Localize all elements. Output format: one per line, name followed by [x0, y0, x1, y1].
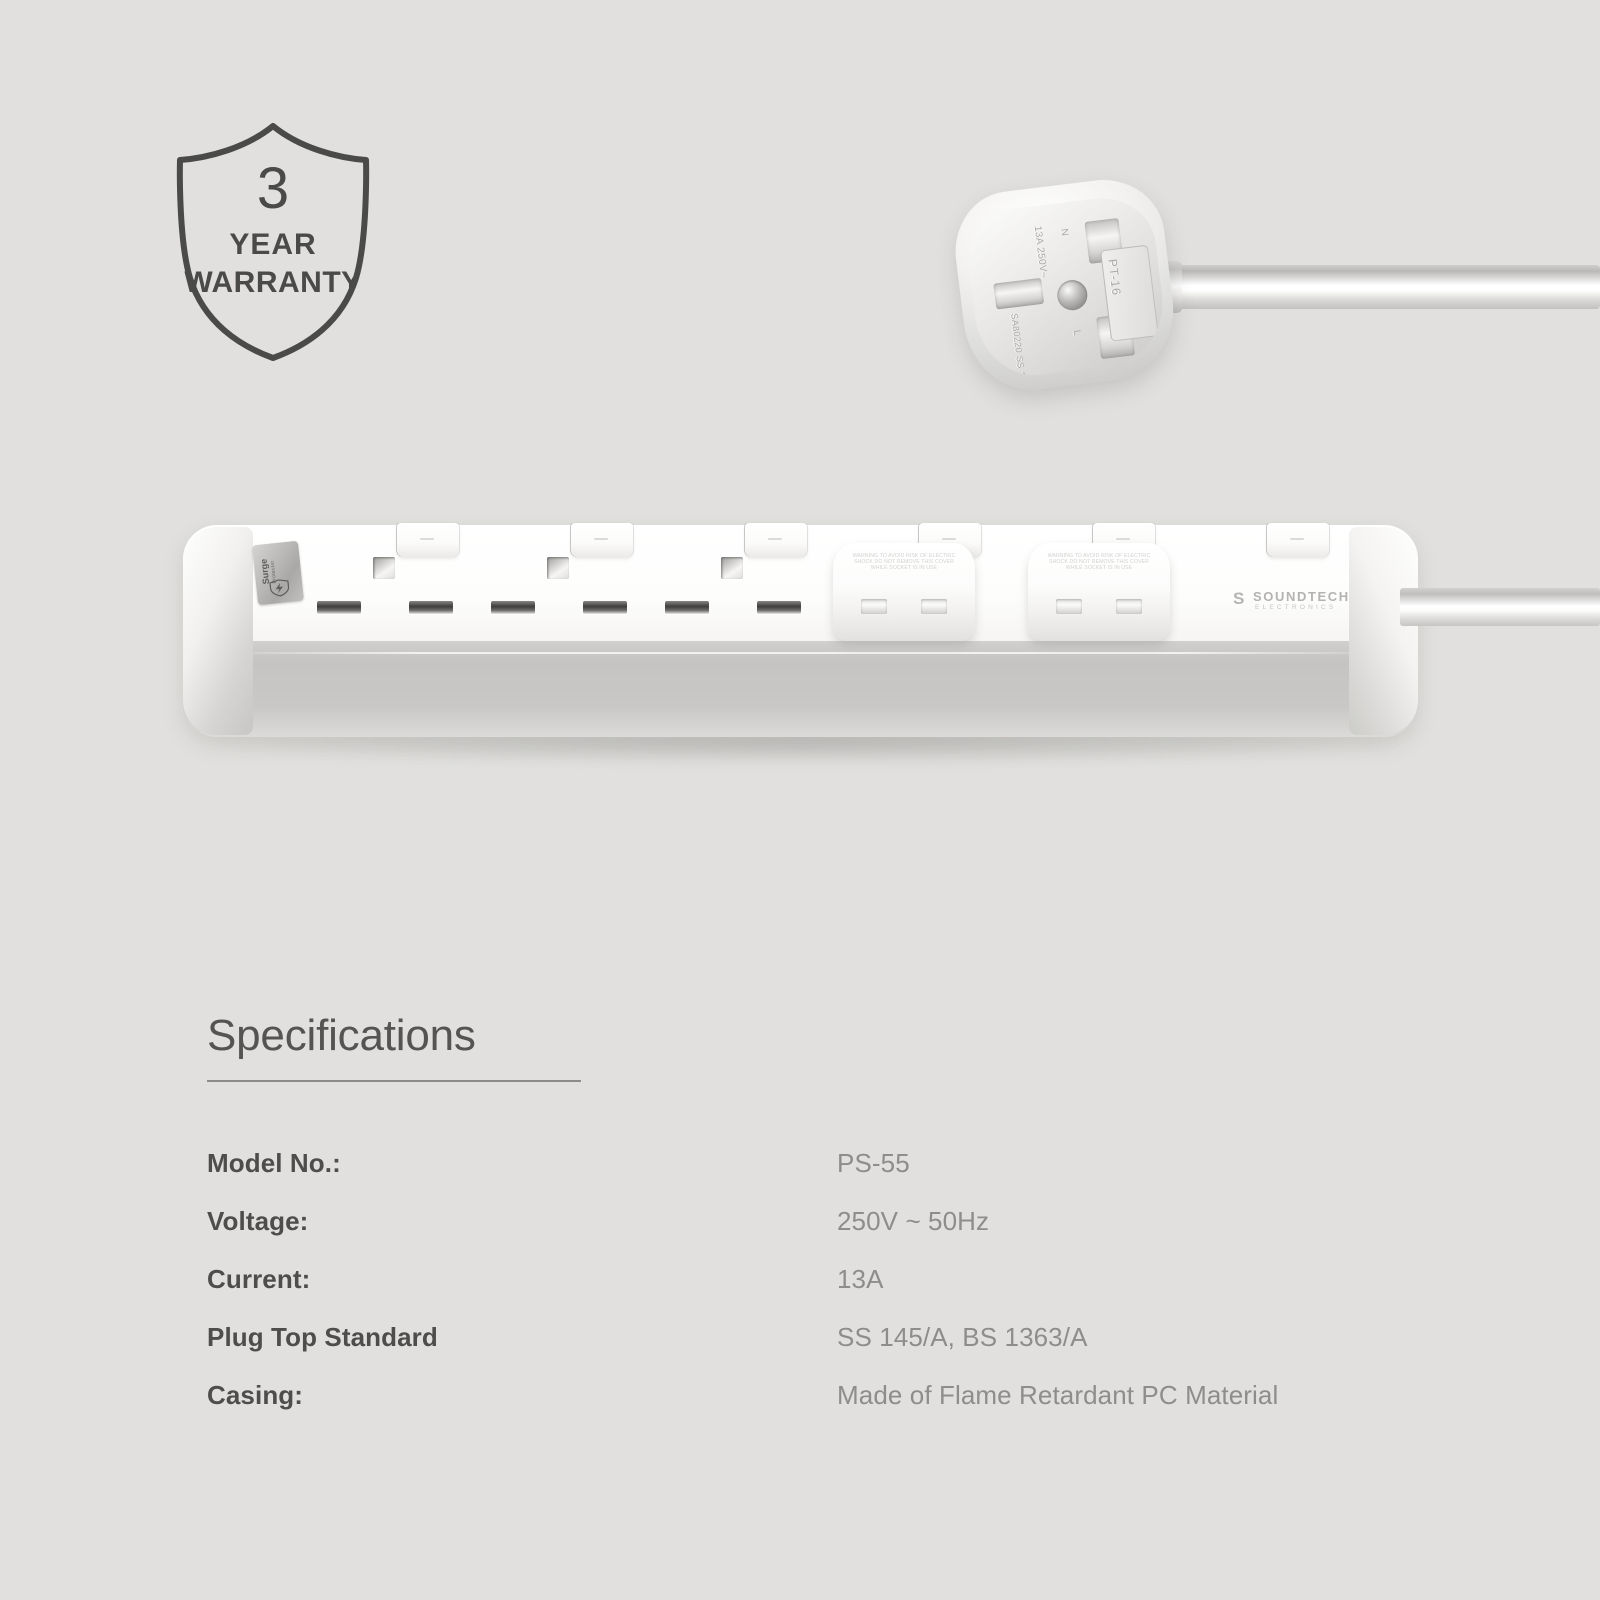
spec-value: Made of Flame Retardant PC Material	[837, 1366, 1497, 1424]
socket-neutral-slot	[317, 601, 361, 614]
surge-protector-sticker: Surge Protector	[252, 541, 304, 605]
power-strip-body: Surge Protector	[183, 525, 1418, 737]
table-row: Voltage: 250V ~ 50Hz	[207, 1192, 1497, 1250]
spec-label: Voltage:	[207, 1192, 837, 1250]
socket-cover-pin-right	[1116, 599, 1142, 614]
socket-earth-slot	[721, 557, 743, 579]
plug-ratings-text: 13A 250V~	[1031, 225, 1049, 279]
power-strip-output-cable	[1400, 588, 1600, 626]
socket-switch-6[interactable]	[1267, 523, 1329, 557]
socket-switch-2[interactable]	[571, 523, 633, 557]
spec-label: Model No.:	[207, 1134, 837, 1192]
brand-logo-name: SOUNDTECH	[1253, 590, 1350, 604]
socket-cover-warning-text: WARNING TO AVOID RISK OF ELECTRIC SHOCK …	[1044, 553, 1154, 572]
socket-live-slot	[409, 601, 453, 614]
socket-outlet-1[interactable]	[301, 525, 469, 641]
table-row: Casing: Made of Flame Retardant PC Mater…	[207, 1366, 1497, 1424]
plug-standards-text: SA80220 SS 145 MS 589/A BS 1363/A	[1008, 313, 1040, 382]
plug-screw	[1056, 278, 1089, 311]
socket-live-slot	[757, 601, 801, 614]
uk-mains-plug: 13A 250V~ SA80220 SS 145 MS 589/A BS 136…	[949, 173, 1182, 397]
spec-value: 250V ~ 50Hz	[837, 1192, 1497, 1250]
power-strip-right-end-cap	[1349, 527, 1418, 735]
table-row: Current: 13A	[207, 1250, 1497, 1308]
table-row: Plug Top Standard SS 145/A, BS 1363/A	[207, 1308, 1497, 1366]
power-strip: Surge Protector	[183, 525, 1418, 760]
specifications-section: Specifications Model No.: PS-55 Voltage:…	[207, 1010, 1497, 1424]
spec-value: 13A	[837, 1250, 1497, 1308]
socket-cover-pin-left	[861, 599, 887, 614]
power-strip-seam	[205, 652, 1395, 654]
plug-terminal-neutral-mark: N	[1058, 228, 1070, 237]
spec-value: SS 145/A, BS 1363/A	[837, 1308, 1497, 1366]
brand-logo-mark: S	[1233, 591, 1249, 607]
brand-logo: S SOUNDTECH ELECTRONICS	[1233, 587, 1373, 617]
table-row: Model No.: PS-55	[207, 1134, 1497, 1192]
warranty-year-label: YEAR	[168, 228, 378, 262]
spec-label: Current:	[207, 1250, 837, 1308]
socket-safety-cover-2[interactable]: WARNING TO AVOID RISK OF ELECTRIC SHOCK …	[1028, 543, 1170, 641]
uk-plug-assembly: 13A 250V~ SA80220 SS 145 MS 589/A BS 136…	[960, 185, 1600, 415]
socket-outlet-2[interactable]	[475, 525, 643, 641]
plug-terminal-live-mark: L	[1071, 329, 1083, 336]
spec-value: PS-55	[837, 1134, 1497, 1192]
specifications-heading: Specifications	[207, 1010, 1497, 1062]
shield-lightning-icon	[268, 578, 292, 598]
spec-label: Plug Top Standard	[207, 1308, 837, 1366]
socket-switch-3[interactable]	[745, 523, 807, 557]
brand-logo-subtitle: ELECTRONICS	[1255, 604, 1336, 612]
socket-cover-pin-left	[1056, 599, 1082, 614]
socket-outlet-3[interactable]	[649, 525, 817, 641]
socket-safety-cover-1[interactable]: WARNING TO AVOID RISK OF ELECTRIC SHOCK …	[833, 543, 975, 641]
socket-neutral-slot	[491, 601, 535, 614]
socket-neutral-slot	[665, 601, 709, 614]
warranty-years: 3	[168, 158, 378, 220]
plug-cable	[1140, 265, 1600, 309]
spec-label: Casing:	[207, 1366, 837, 1424]
socket-live-slot	[583, 601, 627, 614]
plug-pin-earth	[993, 278, 1044, 310]
socket-cover-warning-text: WARNING TO AVOID RISK OF ELECTRIC SHOCK …	[849, 553, 959, 572]
socket-switch-1[interactable]	[397, 523, 459, 557]
socket-cover-pin-right	[921, 599, 947, 614]
warranty-warranty-label: WARRANTY	[168, 266, 378, 300]
socket-earth-slot	[373, 557, 395, 579]
socket-outlet-6[interactable]	[1171, 525, 1339, 641]
specifications-heading-rule	[207, 1080, 581, 1082]
socket-earth-slot	[547, 557, 569, 579]
power-strip-left-end-cap	[183, 527, 253, 735]
warranty-badge: 3 YEAR WARRANTY	[168, 118, 378, 363]
specifications-table: Model No.: PS-55 Voltage: 250V ~ 50Hz Cu…	[207, 1134, 1497, 1424]
plug-face: 13A 250V~ SA80220 SS 145 MS 589/A BS 136…	[963, 192, 1170, 382]
